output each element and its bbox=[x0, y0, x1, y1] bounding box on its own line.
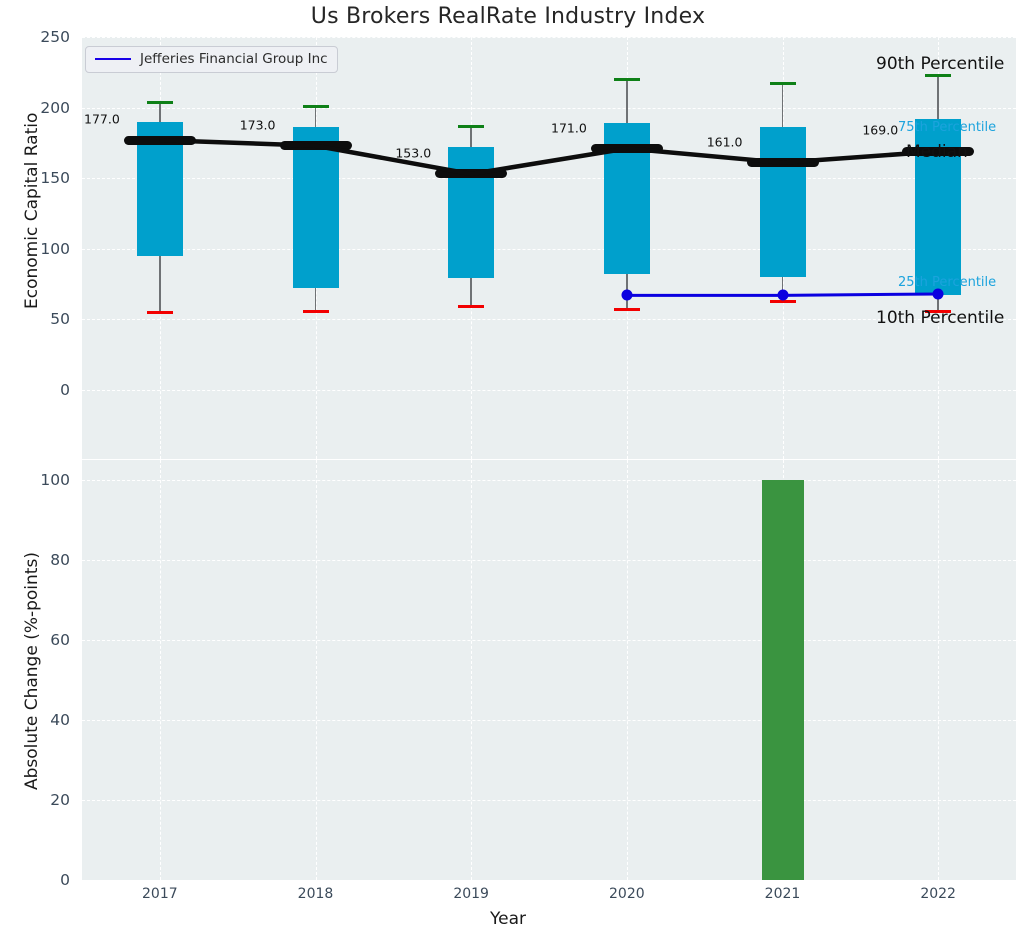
annotation-90th-percentile: 90th Percentile bbox=[876, 54, 1004, 74]
gridline-horizontal bbox=[82, 560, 1016, 561]
legend[interactable]: Jefferies Financial Group Inc bbox=[85, 46, 338, 73]
legend-label: Jefferies Financial Group Inc bbox=[140, 51, 328, 67]
y-tick-label-top: 200 bbox=[0, 99, 70, 117]
company-data-point[interactable] bbox=[777, 290, 788, 301]
y-tick-label-top: 250 bbox=[0, 28, 70, 46]
panel-economic-capital-ratio: 177.0173.0153.0171.0161.0169.0 bbox=[82, 37, 1016, 459]
gridline-horizontal bbox=[82, 800, 1016, 801]
y-tick-label-bottom: 0 bbox=[0, 871, 70, 889]
annotation-10th-percentile: 10th Percentile bbox=[876, 308, 1004, 328]
gridline-vertical bbox=[471, 460, 472, 880]
legend-line-swatch bbox=[95, 58, 131, 60]
y-tick-label-bottom: 20 bbox=[0, 791, 70, 809]
x-tick-label: 2018 bbox=[271, 886, 361, 902]
gridline-vertical bbox=[938, 460, 939, 880]
y-tick-label-top: 150 bbox=[0, 169, 70, 187]
gridline-vertical bbox=[316, 460, 317, 880]
annotation-75th-percentile: 75th Percentile bbox=[898, 120, 996, 135]
company-data-point[interactable] bbox=[933, 288, 944, 299]
panel-absolute-change bbox=[82, 460, 1016, 880]
y-tick-label-bottom: 60 bbox=[0, 631, 70, 649]
y-axis-title-bottom: Absolute Change (%-points) bbox=[22, 552, 42, 790]
y-tick-label-bottom: 100 bbox=[0, 471, 70, 489]
x-tick-label: 2022 bbox=[893, 886, 983, 902]
x-tick-label: 2017 bbox=[115, 886, 205, 902]
company-data-point[interactable] bbox=[621, 290, 632, 301]
y-tick-label-bottom: 40 bbox=[0, 711, 70, 729]
gridline-horizontal bbox=[82, 880, 1016, 881]
y-tick-label-bottom: 80 bbox=[0, 551, 70, 569]
y-tick-label-top: 100 bbox=[0, 240, 70, 258]
gridline-horizontal bbox=[82, 480, 1016, 481]
gridline-horizontal bbox=[82, 640, 1016, 641]
x-axis-title: Year bbox=[0, 909, 1016, 929]
y-tick-label-top: 50 bbox=[0, 310, 70, 328]
figure: Us Brokers RealRate Industry Index 177.0… bbox=[0, 0, 1016, 942]
gridline-horizontal bbox=[82, 720, 1016, 721]
y-tick-label-top: 0 bbox=[0, 381, 70, 399]
y-axis-title-top: Economic Capital Ratio bbox=[22, 112, 42, 308]
x-tick-label: 2019 bbox=[426, 886, 516, 902]
x-tick-label: 2021 bbox=[738, 886, 828, 902]
company-trend-line bbox=[82, 37, 1016, 459]
absolute-change-bar bbox=[762, 480, 804, 880]
annotation-median: Median bbox=[906, 142, 968, 162]
gridline-vertical bbox=[627, 460, 628, 880]
annotation-25th-percentile: 25th Percentile bbox=[898, 275, 996, 290]
gridline-vertical bbox=[160, 460, 161, 880]
x-tick-label: 2020 bbox=[582, 886, 672, 902]
chart-title: Us Brokers RealRate Industry Index bbox=[0, 4, 1016, 29]
